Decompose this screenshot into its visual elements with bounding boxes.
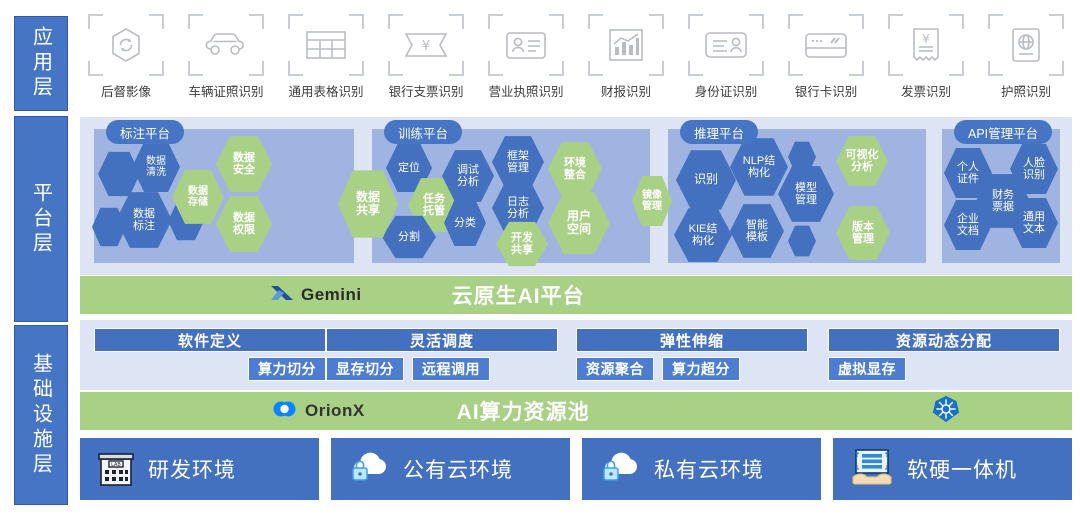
hexagon-refresh-icon <box>106 25 146 65</box>
capability-main[interactable]: 灵活调度 <box>326 328 558 352</box>
public-cloud-lock-icon <box>345 446 393 493</box>
platform-group-training: 训练平台 定位任务托管分割调试分析分类框架管理日志分析开发共享环境整合用户空间 <box>372 129 650 263</box>
environment-label: 公有云环境 <box>403 454 513 484</box>
platform-node[interactable]: 识别 <box>676 149 736 211</box>
capability-sub[interactable]: 显存切分 <box>326 357 404 381</box>
capability-sub[interactable]: 算力切分 <box>248 357 326 381</box>
capability-sub[interactable]: 远程调用 <box>412 357 490 381</box>
capability-column: 软件定义算力切分 <box>94 328 326 381</box>
appliance-hand-icon <box>847 445 897 494</box>
app-item-5[interactable]: 营业执照识别 <box>480 14 572 100</box>
app-icon-frame <box>288 14 364 76</box>
capability-column: 灵活调度显存切分远程调用 <box>326 328 558 381</box>
gemini-brand: Gemini <box>270 284 362 307</box>
platform-node-label: 模型管理 <box>791 182 821 207</box>
layer-rail-application-label: 应用层 <box>27 26 56 101</box>
platform-node-label: 数据存储 <box>184 186 212 208</box>
platform-node-label: 数据权限 <box>229 212 259 237</box>
platform-node-label: 人脸识别 <box>1019 157 1049 182</box>
capability-sub-row: 资源聚合算力超分 <box>576 357 808 381</box>
platform-group-api: API管理平台 个人证件企业文档财务票据人脸识别通用文本 <box>942 129 1060 263</box>
app-item-label: 身份证识别 <box>695 81 758 100</box>
platform-node-label: NLP结构化 <box>739 155 779 180</box>
platform-node-label: 环境整合 <box>560 157 590 182</box>
app-icon-frame: ¥ <box>888 14 964 76</box>
svg-text:¥: ¥ <box>422 39 430 54</box>
platform-group-annotation: 标注平台 数据清洗数据标注数据存储数据安全数据权限 <box>94 129 354 263</box>
platform-node[interactable]: 模型管理 <box>778 165 834 223</box>
orionx-eye-icon <box>272 400 298 423</box>
capability-sub-row: 显存切分远程调用 <box>326 357 558 381</box>
platform-node-label: 数据标注 <box>129 208 159 233</box>
environment-label: 软硬一体机 <box>907 454 1017 484</box>
private-cloud-lock-icon <box>596 446 644 493</box>
platform-node-label: 识别 <box>690 173 722 186</box>
layer-rail-infrastructure: 基础设施层 <box>14 325 68 505</box>
platform-node-label: 框架管理 <box>503 150 533 175</box>
app-item-label: 发票识别 <box>901 81 951 100</box>
orionx-bar-title: AI算力资源池 <box>457 396 590 426</box>
platform-node[interactable]: 数据清洗 <box>132 141 180 193</box>
platform-group-annotation-title: 标注平台 <box>106 120 184 144</box>
platform-node[interactable]: 版本管理 <box>836 205 890 261</box>
platform-node-label: 数据安全 <box>229 152 259 177</box>
svg-text:LAB: LAB <box>111 462 121 468</box>
platform-node-label: 通用文本 <box>1019 211 1049 236</box>
capability-main[interactable]: 弹性伸缩 <box>576 328 808 352</box>
capability-column: 资源动态分配虚拟显存 <box>828 328 1060 381</box>
platform-node[interactable]: KIE结构化 <box>674 207 732 263</box>
capability-sub-row: 算力切分 <box>94 357 326 381</box>
platform-group-inference-title: 推理平台 <box>680 120 758 144</box>
capability-main[interactable]: 资源动态分配 <box>828 328 1060 352</box>
gemini-x-icon <box>270 284 294 307</box>
gemini-bar-title: 云原生AI平台 <box>452 280 585 310</box>
environment-box-3[interactable]: 私有云环境 <box>582 438 821 500</box>
platform-node-label: 企业文档 <box>953 213 983 238</box>
platform-node-label: 财务票据 <box>988 189 1018 214</box>
app-item-8[interactable]: 银行卡识别 <box>780 14 872 100</box>
passport-globe-icon <box>1010 26 1042 64</box>
platform-node-label: 可视化分析 <box>842 149 883 174</box>
environment-label: 私有云环境 <box>654 454 764 484</box>
bridge-node-image-management: 镜像管理 <box>632 175 672 227</box>
gemini-platform-bar: Gemini 云原生AI平台 <box>80 276 1072 314</box>
capability-column: 弹性伸缩资源聚合算力超分 <box>576 328 808 381</box>
platform-node-label: 版本管理 <box>848 221 878 246</box>
environment-box-2[interactable]: 公有云环境 <box>331 438 570 500</box>
car-icon <box>204 28 248 62</box>
kubernetes-helm-icon <box>932 395 960 428</box>
environment-box-4[interactable]: 软硬一体机 <box>833 438 1072 500</box>
app-icon-frame <box>788 14 864 76</box>
app-icon-frame <box>588 14 664 76</box>
license-person-icon <box>505 30 547 61</box>
app-icon-frame <box>488 14 564 76</box>
app-item-10[interactable]: 护照识别 <box>980 14 1072 100</box>
invoice-yen-icon: ¥ <box>910 26 942 64</box>
cheque-yen-icon: ¥ <box>403 30 449 60</box>
platform-node-decor <box>98 151 140 197</box>
app-item-label: 通用表格识别 <box>288 81 363 100</box>
platform-node-label: 日志分析 <box>503 196 533 221</box>
app-item-7[interactable]: 身份证识别 <box>680 14 772 100</box>
platform-node[interactable]: 可视化分析 <box>836 135 888 187</box>
platform-group-training-title: 训练平台 <box>384 120 462 144</box>
app-item-2[interactable]: 车辆证照识别 <box>180 14 272 100</box>
platform-group-inference: 推理平台 识别KIE结构化NLP结构化智能模板模型管理可视化分析版本管理 <box>668 129 926 263</box>
bridge-node[interactable]: 镜像管理 <box>632 175 672 227</box>
app-item-1[interactable]: 后督影像 <box>80 14 172 100</box>
platform-node[interactable]: 数据权限 <box>216 195 272 253</box>
platform-node-label: 定位 <box>394 162 424 174</box>
platform-node-label: 调试分析 <box>453 164 483 189</box>
platform-node-label: 智能模板 <box>742 219 772 244</box>
svg-text:¥: ¥ <box>922 32 930 46</box>
bridge-node-data-sharing: 数据共享 <box>338 169 398 239</box>
orionx-resource-pool-bar: OrionX AI算力资源池 <box>80 392 1072 430</box>
app-item-label: 财报识别 <box>601 81 651 100</box>
app-item-9[interactable]: ¥发票识别 <box>880 14 972 100</box>
platform-node[interactable]: 框架管理 <box>492 135 544 189</box>
app-icon-frame <box>988 14 1064 76</box>
platform-node[interactable]: 环境整合 <box>548 141 602 197</box>
capability-main[interactable]: 软件定义 <box>94 328 326 352</box>
layer-rail-platform-label: 平台层 <box>27 182 56 257</box>
table-grid-icon <box>305 29 347 61</box>
platform-node-label: 开发共享 <box>507 232 537 257</box>
environment-row: LAB研发环境公有云环境私有云环境软硬一体机 <box>80 438 1072 504</box>
orionx-brand-text: OrionX <box>305 401 365 421</box>
platform-node[interactable]: 用户空间 <box>548 191 610 255</box>
bridge-node-label: 数据共享 <box>352 191 384 218</box>
platform-node-decor <box>788 225 816 257</box>
app-item-4[interactable]: ¥银行支票识别 <box>380 14 472 100</box>
layer-rail-platform: 平台层 <box>14 116 68 322</box>
platform-node-label: 分割 <box>394 231 424 243</box>
platform-node-label: 用户空间 <box>563 210 595 237</box>
orionx-brand: OrionX <box>272 400 365 423</box>
bank-card-icon <box>804 31 848 60</box>
app-item-6[interactable]: 财报识别 <box>580 14 672 100</box>
app-item-label: 银行卡识别 <box>795 81 858 100</box>
app-item-label: 银行支票识别 <box>388 81 463 100</box>
environment-label: 研发环境 <box>148 454 236 484</box>
platform-node[interactable]: 智能模板 <box>730 203 784 259</box>
platform-node[interactable]: 数据安全 <box>216 135 272 193</box>
platform-node[interactable]: NLP结构化 <box>730 137 788 197</box>
app-icon-frame <box>188 14 264 76</box>
platform-node-label: KIE结构化 <box>685 223 722 248</box>
app-item-label: 营业执照识别 <box>488 81 563 100</box>
app-item-label: 车辆证照识别 <box>188 81 263 100</box>
bar-chart-icon <box>607 27 645 63</box>
platform-node-label: 分类 <box>450 217 480 229</box>
platform-node-label: 任务托管 <box>419 193 449 218</box>
bridge-node-label: 镜像管理 <box>638 190 666 212</box>
app-item-3[interactable]: 通用表格识别 <box>280 14 372 100</box>
app-icon-frame <box>688 14 764 76</box>
platform-node-label: 个人证件 <box>953 161 983 186</box>
architecture-diagram: 应用层 平台层 基础设施层 后督影像车辆证照识别通用表格识别¥银行支票识别营业执… <box>0 0 1080 517</box>
bridge-node[interactable]: 数据共享 <box>338 169 398 239</box>
capability-sub-row: 虚拟显存 <box>828 357 1060 381</box>
capability-sub[interactable]: 资源聚合 <box>576 357 654 381</box>
lab-building-icon: LAB <box>94 445 138 494</box>
app-item-label: 后督影像 <box>101 81 151 100</box>
platform-layer: 标注平台 数据清洗数据标注数据存储数据安全数据权限 训练平台 定位任务托管分割调… <box>80 117 1072 275</box>
layer-rail-application: 应用层 <box>14 16 68 111</box>
layer-rail-infrastructure-label: 基础设施层 <box>27 353 56 478</box>
app-icon-frame: ¥ <box>388 14 464 76</box>
app-icon-frame <box>88 14 164 76</box>
id-card-icon <box>704 30 748 60</box>
gemini-brand-text: Gemini <box>301 285 362 305</box>
environment-box-1[interactable]: LAB研发环境 <box>80 438 319 500</box>
infrastructure-capability-band: 软件定义算力切分灵活调度显存切分远程调用弹性伸缩资源聚合算力超分资源动态分配虚拟… <box>80 320 1072 390</box>
application-layer: 后督影像车辆证照识别通用表格识别¥银行支票识别营业执照识别财报识别身份证识别银行… <box>80 14 1072 110</box>
capability-sub[interactable]: 虚拟显存 <box>828 357 906 381</box>
app-item-label: 护照识别 <box>1001 81 1051 100</box>
capability-sub[interactable]: 算力超分 <box>662 357 740 381</box>
platform-group-api-title: API管理平台 <box>954 120 1052 144</box>
platform-node[interactable]: 数据标注 <box>116 191 172 249</box>
platform-node-label: 数据清洗 <box>142 156 170 178</box>
